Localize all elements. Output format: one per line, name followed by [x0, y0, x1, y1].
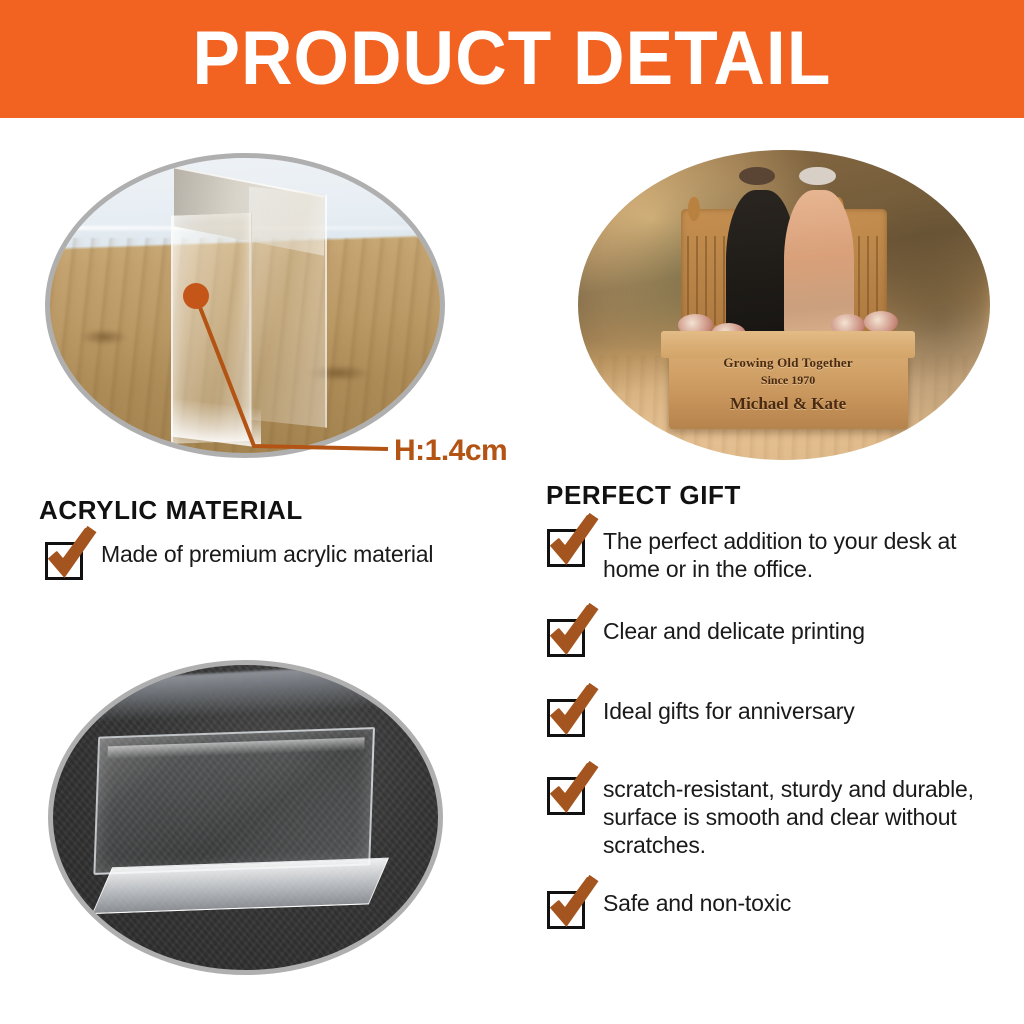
wood-table-background: [50, 158, 440, 453]
acrylic-slab: [92, 727, 375, 914]
engraving-line-3: Michael & Kate: [669, 394, 908, 414]
list-item-label: Ideal gifts for anniversary: [603, 697, 855, 725]
checkmark-icon: [548, 605, 600, 655]
list-item: Safe and non-toxic: [547, 889, 1007, 929]
checkmark-icon: [46, 528, 98, 578]
checkbox[interactable]: [547, 529, 585, 567]
acrylic-slab-photo: [48, 660, 443, 975]
list-item-label: Safe and non-toxic: [603, 889, 791, 917]
checkmark-icon: [548, 763, 600, 813]
checkbox[interactable]: [45, 542, 83, 580]
checkmark-icon: [548, 515, 600, 565]
list-item-label: Made of premium acrylic material: [101, 540, 433, 568]
acrylic-block-standing: [171, 167, 327, 444]
acrylic-block-side-face: [249, 186, 327, 428]
acrylic-slab-top-face: [94, 727, 376, 875]
figurine-background: Growing Old Together Since 1970 Michael …: [578, 150, 990, 460]
callout-label: H:1.4cm: [394, 434, 507, 468]
list-item-label: The perfect addition to your desk at hom…: [603, 527, 1003, 583]
list-item: The perfect addition to your desk at hom…: [547, 527, 1007, 583]
header-banner: PRODUCT DETAIL: [0, 0, 1024, 118]
feature-list-acrylic-material: Made of premium acrylic material: [45, 540, 515, 614]
list-item: scratch-resistant, sturdy and durable, s…: [547, 775, 1007, 859]
product-detail-page: PRODUCT DETAIL: [0, 0, 1024, 1024]
engraving-line-2: Since 1970: [669, 373, 908, 388]
figurine-woman-head: [799, 167, 835, 185]
feature-list-perfect-gift: The perfect addition to your desk at hom…: [547, 527, 1007, 929]
slate-background: [53, 665, 438, 970]
checkmark-icon: [548, 877, 600, 927]
engraved-wooden-base: Growing Old Together Since 1970 Michael …: [669, 352, 908, 430]
page-title: PRODUCT DETAIL: [193, 21, 832, 97]
list-item: Ideal gifts for anniversary: [547, 697, 1007, 737]
acrylic-edge-photo: [45, 153, 445, 458]
section-heading-perfect-gift: PERFECT GIFT: [546, 480, 741, 511]
checkbox[interactable]: [547, 619, 585, 657]
checkbox[interactable]: [547, 891, 585, 929]
section-heading-acrylic-material: ACRYLIC MATERIAL: [39, 495, 303, 526]
engraving-line-1: Growing Old Together: [669, 355, 908, 371]
list-item: Clear and delicate printing: [547, 617, 1007, 657]
checkmark-icon: [548, 685, 600, 735]
list-item: Made of premium acrylic material: [45, 540, 515, 580]
list-item-label: Clear and delicate printing: [603, 617, 865, 645]
checkbox[interactable]: [547, 699, 585, 737]
checkbox[interactable]: [547, 777, 585, 815]
figurine-photo: Growing Old Together Since 1970 Michael …: [578, 150, 990, 460]
list-item-label: scratch-resistant, sturdy and durable, s…: [603, 775, 1003, 859]
